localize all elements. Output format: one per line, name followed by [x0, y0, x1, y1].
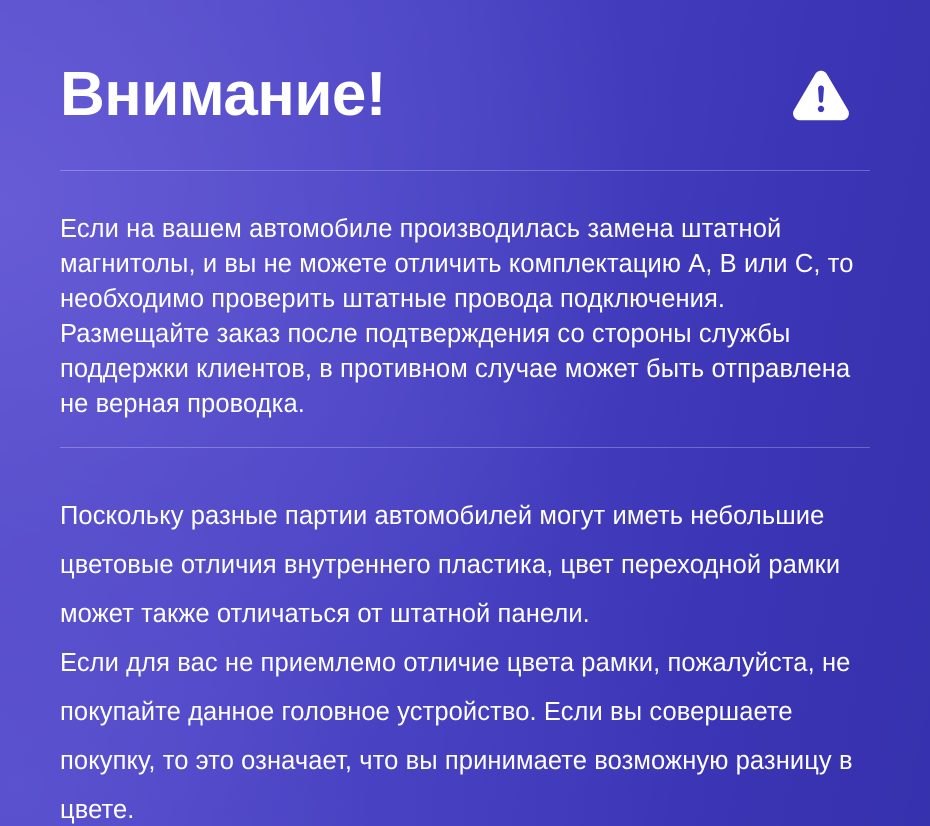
banner-header: Внимание!: [60, 52, 872, 138]
notice-text-radio-replacement: Если на вашем автомобиле производилась з…: [60, 212, 875, 422]
notice-block-color-difference: Поскольку разные партии автомобилей могу…: [60, 492, 875, 826]
notice-text-purchase-agreement: Если для вас не приемлемо отличие цвета …: [60, 639, 875, 826]
warning-banner: Внимание! Если на вашем автомобиле произ…: [0, 0, 930, 826]
page-title: Внимание!: [60, 60, 386, 130]
notice-text-color-difference: Поскольку разные партии автомобилей могу…: [60, 492, 875, 639]
divider-middle: [60, 447, 870, 448]
warning-triangle-icon: [792, 66, 872, 124]
notice-block-radio-replacement: Если на вашем автомобиле производилась з…: [60, 212, 875, 422]
divider-top: [60, 170, 870, 171]
